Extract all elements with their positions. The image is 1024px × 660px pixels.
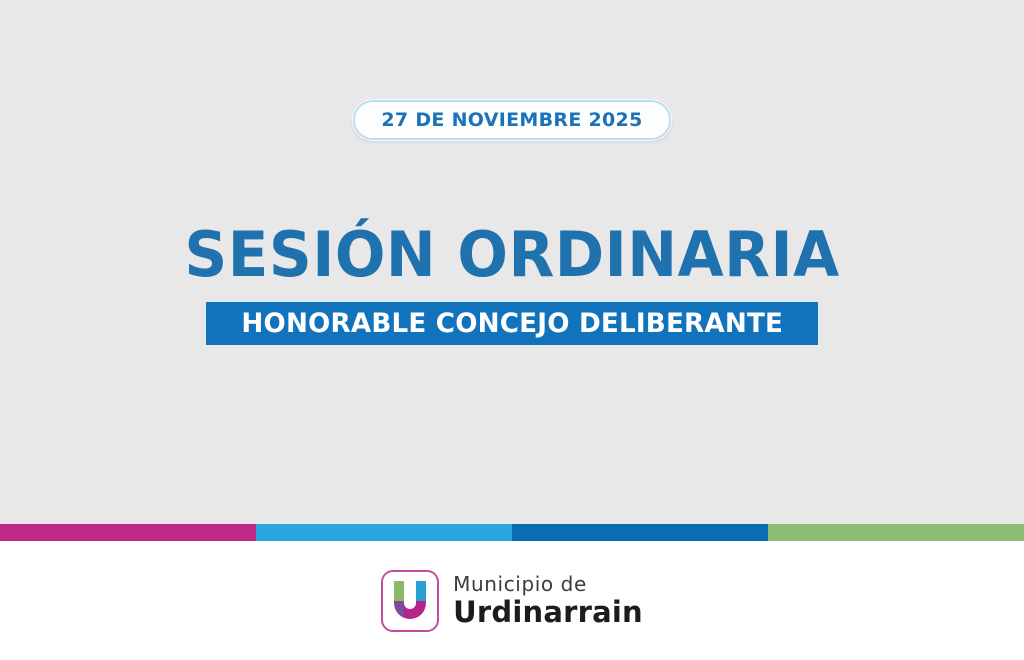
- date-badge-container: 27 DE NOVIEMBRE 2025: [0, 100, 1024, 140]
- date-badge: 27 DE NOVIEMBRE 2025: [353, 100, 670, 140]
- stripe-segment-green: [768, 524, 1024, 541]
- page-title: SESIÓN ORDINARIA: [20, 218, 1003, 292]
- color-stripe: [0, 524, 1024, 541]
- footer: Municipio de Urdinarrain: [0, 541, 1024, 660]
- subtitle-label: HONORABLE CONCEJO DELIBERANTE: [241, 308, 783, 339]
- stripe-segment-magenta: [0, 524, 256, 541]
- municipality-logo-lockup: Municipio de Urdinarrain: [381, 570, 643, 632]
- municipality-logo-text: Municipio de Urdinarrain: [453, 574, 643, 627]
- session-announcement-slide: 27 DE NOVIEMBRE 2025 SESIÓN ORDINARIA HO…: [0, 0, 1024, 660]
- logo-text-municipio: Municipio de: [453, 574, 643, 594]
- urdinarrain-u-logo-icon: [381, 570, 439, 632]
- stripe-segment-light-blue: [256, 524, 512, 541]
- title-block: SESIÓN ORDINARIA HONORABLE CONCEJO DELIB…: [0, 218, 1024, 345]
- stripe-segment-dark-blue: [512, 524, 768, 541]
- subtitle-bar-container: HONORABLE CONCEJO DELIBERANTE: [0, 302, 1024, 345]
- subtitle-bar: HONORABLE CONCEJO DELIBERANTE: [206, 302, 818, 345]
- date-badge-label: 27 DE NOVIEMBRE 2025: [381, 109, 642, 131]
- logo-text-urdinarrain: Urdinarrain: [453, 598, 643, 627]
